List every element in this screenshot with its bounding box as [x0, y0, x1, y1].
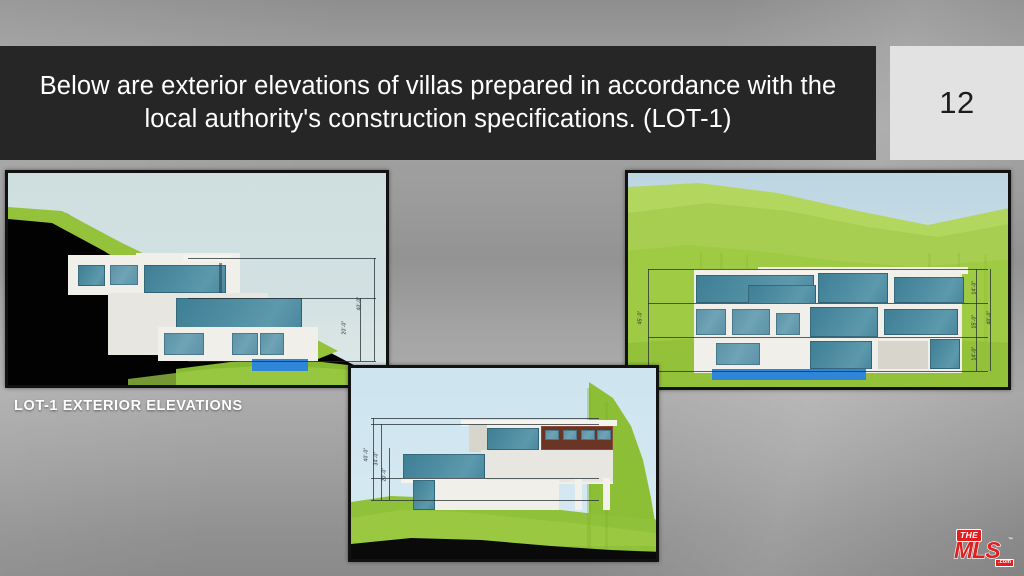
- window-lower-3: [260, 333, 284, 355]
- dim-line-r-3: [648, 337, 988, 338]
- window-mid-3: [776, 313, 800, 335]
- window-mid-1: [696, 309, 726, 335]
- dim-label-40ft: 40'-0": [357, 297, 362, 311]
- dim-line-r-2: [648, 303, 988, 304]
- elevation-image-right[interactable]: 45'-0" 14'-0" 15'-0" 40'-0" 14'-0": [625, 170, 1011, 390]
- window-upper-far-right: [894, 277, 964, 303]
- window-wood-3: [581, 430, 595, 440]
- dim-line-b-top: [371, 418, 599, 419]
- window-wood-2: [563, 430, 577, 440]
- dim-label-right-14ft-top: 14'-0": [972, 281, 977, 295]
- window-lower-right-3: [930, 339, 960, 369]
- elevation-image-left[interactable]: 40'-0" 20'-0": [5, 170, 389, 388]
- logo-mls-text: MLS: [954, 539, 1000, 562]
- window-band-mid: [176, 298, 302, 330]
- dim-label-right-40ft: 40'-0": [987, 311, 992, 325]
- dim-label-right-15ft: 15'-0": [972, 315, 977, 329]
- column-bottom-2: [603, 478, 610, 510]
- themls-logo[interactable]: THE MLS ™ .com: [952, 528, 1014, 568]
- window-mid-5: [884, 309, 958, 335]
- dim-line-vert-outer: [374, 258, 375, 361]
- window-lower-right-1: [716, 343, 760, 365]
- wall-lower-shadow: [878, 341, 928, 369]
- window-upper-center: [818, 273, 888, 303]
- page-number: 12: [939, 85, 974, 121]
- window-lower-right-2: [810, 341, 872, 369]
- window-mid-2: [732, 309, 770, 335]
- header-bar: Below are exterior elevations of villas …: [0, 46, 876, 160]
- window-left-2: [110, 265, 138, 285]
- dim-label-bottom-40ft: 40'-0": [364, 448, 369, 462]
- window-upper-balcony: [748, 285, 816, 305]
- window-left-1: [78, 265, 105, 286]
- window-band-upper: [144, 265, 226, 293]
- dim-label-right-45ft: 45'-0": [638, 311, 643, 325]
- page-number-box: 12: [890, 46, 1024, 160]
- dim-line-left-vert: [648, 269, 649, 371]
- dim-line-top: [188, 258, 376, 259]
- window-bottom-lower-left: [413, 480, 435, 510]
- window-bottom-upper: [487, 428, 539, 450]
- elevation-image-bottom[interactable]: 40'-0" 34'-0" 20'-0": [348, 365, 659, 562]
- window-wood-4: [597, 430, 611, 440]
- page-title: Below are exterior elevations of villas …: [18, 70, 858, 136]
- wall-side-shadow-bottom: [469, 424, 487, 452]
- dim-line-r-4: [648, 371, 988, 372]
- caption-lot1-exterior-elevations: LOT-1 EXTERIOR ELEVATIONS: [14, 398, 243, 414]
- dim-label-bottom-34ft: 34'-0": [374, 452, 379, 466]
- dim-line-bottom: [188, 361, 376, 362]
- wall-bottom-lower: [433, 480, 559, 510]
- dim-label-20ft: 20'-0": [342, 321, 347, 335]
- window-bottom-cantilever: [403, 454, 485, 480]
- mullion-upper: [219, 263, 222, 295]
- dim-line-r-top: [648, 269, 988, 270]
- column-bottom-1: [575, 478, 582, 510]
- window-wood-1: [545, 430, 559, 440]
- dim-line-b-v3: [389, 448, 390, 500]
- dim-label-bottom-20ft: 20'-0": [382, 468, 387, 482]
- dim-label-right-14ft-bottom: 14'-0": [972, 347, 977, 361]
- dim-line-b-v2: [381, 424, 382, 500]
- logo-tm-mark: ™: [1008, 537, 1013, 543]
- dim-line-b-mid: [371, 478, 599, 479]
- window-lower-2: [232, 333, 258, 355]
- window-lower-1: [164, 333, 204, 355]
- dim-line-b-bottom: [371, 500, 599, 501]
- logo-com-text: .com: [995, 559, 1014, 568]
- slide-canvas: Below are exterior elevations of villas …: [0, 0, 1024, 576]
- window-mid-4: [810, 307, 878, 337]
- dim-line-b-top2: [371, 424, 599, 425]
- dim-line-mid: [188, 298, 376, 299]
